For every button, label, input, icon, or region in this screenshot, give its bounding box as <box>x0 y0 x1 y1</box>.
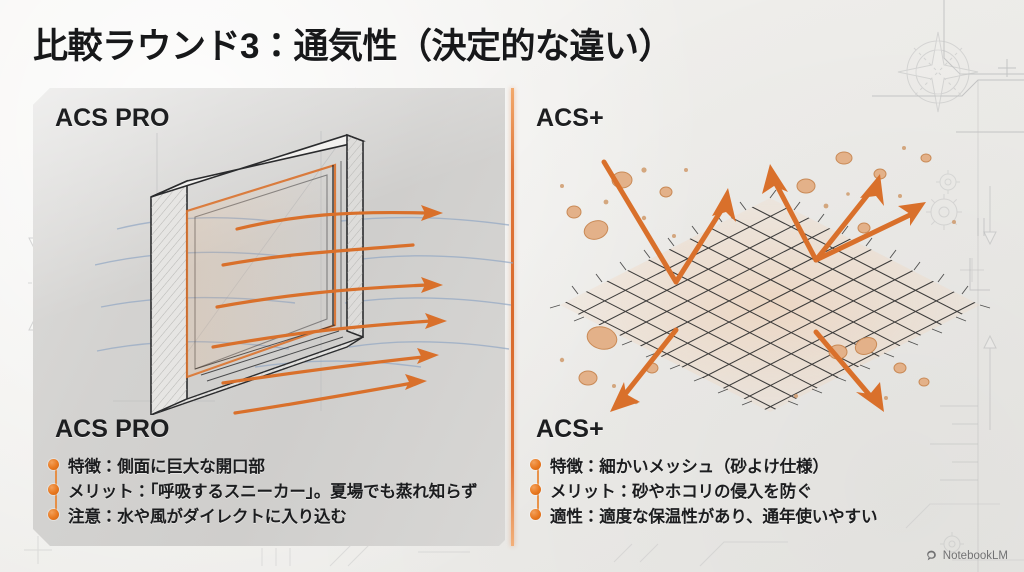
crosshair-top-right-icon <box>998 59 1016 77</box>
notebooklm-watermark: NotebookLM <box>925 549 1008 562</box>
bottom-right-hatch-decoration <box>614 542 788 566</box>
bullet-dot-icon <box>530 484 541 495</box>
acs-pro-heading-bottom: ACS PRO <box>55 415 170 444</box>
mesh-plane-fill <box>560 198 980 412</box>
bullet-label: 注意：水や風がダイレクトに入り込む <box>68 503 347 527</box>
bullet-label: メリット：「呼吸するスニーカー」。夏場でも蒸れ知らず <box>68 478 478 502</box>
list-item: メリット：砂やホコリの侵入を防ぐ <box>530 477 1000 502</box>
bullet-dot-icon <box>530 509 541 520</box>
bullet-dot-icon <box>530 459 541 470</box>
acs-pro-heading-top: ACS PRO <box>55 104 170 133</box>
gear-large-icon <box>926 194 962 230</box>
mesh-grid <box>548 140 993 430</box>
deflection-arrows <box>604 162 912 398</box>
acs-plus-illustration-fine-mesh <box>548 140 993 430</box>
acs-plus-heading-bottom: ACS+ <box>536 415 604 444</box>
bullet-dot-icon <box>48 484 59 495</box>
compass-rose-icon <box>898 32 978 112</box>
acs-plus-heading-top: ACS+ <box>536 104 604 133</box>
page-title: 比較ラウンド3：通気性（決定的な違い） <box>33 18 673 69</box>
crosshair-right-icon <box>960 258 984 282</box>
list-item: 特徴：細かいメッシュ（砂よけ仕様） <box>530 452 1000 477</box>
watermark-label: NotebookLM <box>943 550 1008 562</box>
notebooklm-logo-icon <box>925 549 938 562</box>
list-item: 適性：適度な保温性があり、通年使いやすい <box>530 502 1000 527</box>
dimension-line-right <box>984 186 996 430</box>
slide-canvas: ACS PRO ACS+ ACS PRO ACS+ 特徴：側面に巨大な開口部 メ… <box>0 0 1024 572</box>
list-item: メリット：「呼吸するスニーカー」。夏場でも蒸れ知らず <box>48 477 518 502</box>
sand-particles <box>560 146 956 404</box>
list-item: 特徴：側面に巨大な開口部 <box>48 452 518 477</box>
deflection-arrowheads <box>610 164 926 412</box>
acs-pro-bullet-list: 特徴：側面に巨大な開口部 メリット：「呼吸するスニーカー」。夏場でも蒸れ知らず … <box>48 452 518 527</box>
bullet-dot-icon <box>48 509 59 520</box>
bullet-label: 特徴：側面に巨大な開口部 <box>68 453 265 477</box>
gear-small-icon <box>936 170 960 194</box>
bullet-label: 適性：適度な保温性があり、通年使いやすい <box>550 503 877 527</box>
list-item: 注意：水や風がダイレクトに入り込む <box>48 502 518 527</box>
mesh-side-circuit <box>970 218 990 290</box>
bullet-label: メリット：砂やホコリの侵入を防ぐ <box>550 478 812 502</box>
bullet-dot-icon <box>48 459 59 470</box>
bullet-label: 特徴：細かいメッシュ（砂よけ仕様） <box>550 453 829 477</box>
mesh-frayed-edges <box>550 190 990 405</box>
acs-plus-bullet-list: 特徴：細かいメッシュ（砂よけ仕様） メリット：砂やホコリの侵入を防ぐ 適性：適度… <box>530 452 1000 527</box>
